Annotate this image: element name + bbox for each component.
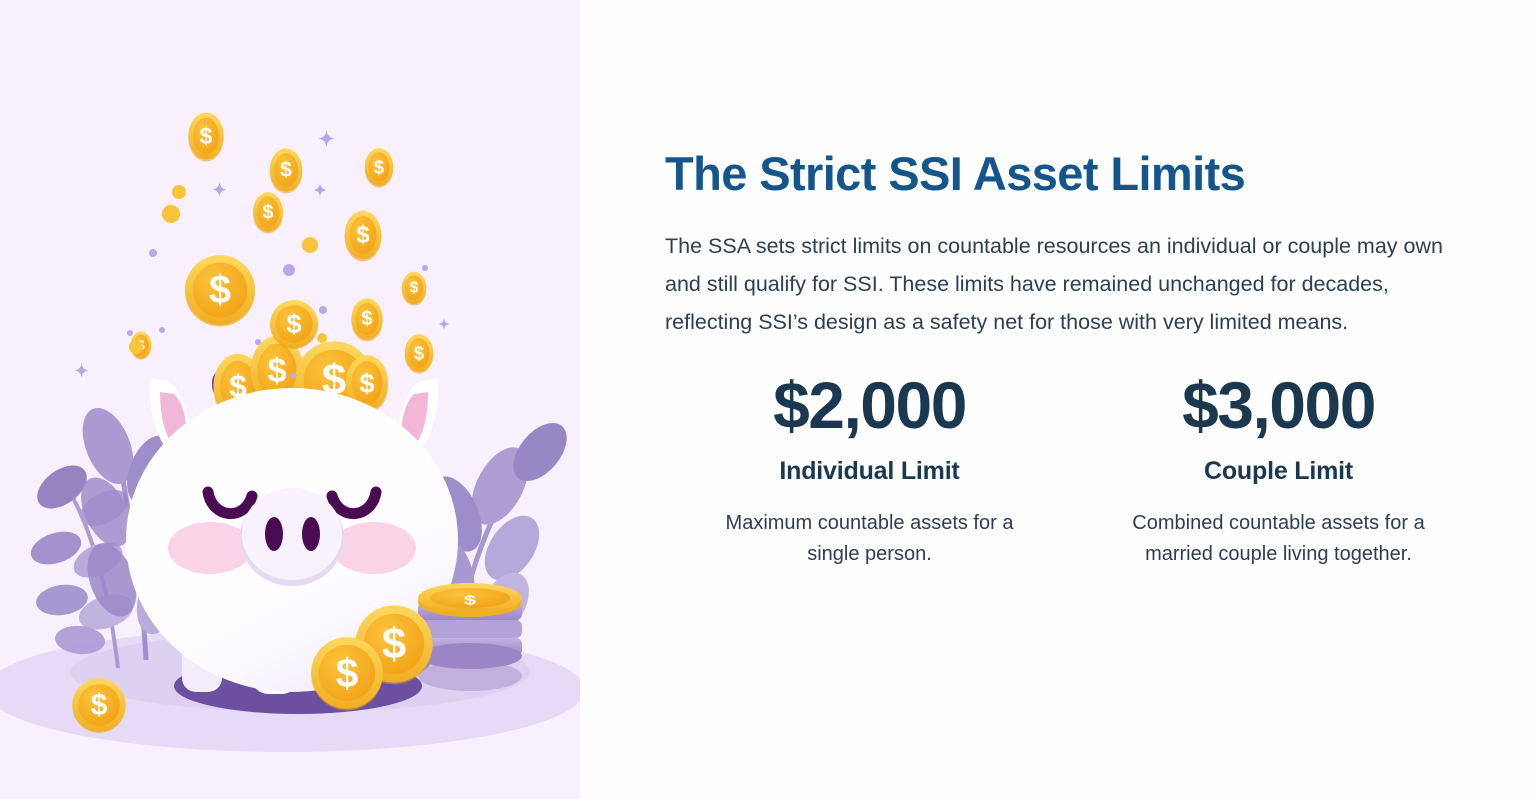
pig-nostril-right	[302, 517, 320, 551]
pig-cheek-left	[168, 522, 252, 574]
page-title: The Strict SSI Asset Limits	[665, 148, 1481, 201]
piggy-bank-illustration: $ $	[0, 0, 580, 799]
stat-individual-limit: $2,000 Individual Limit Maximum countabl…	[665, 369, 1074, 570]
stat-description-couple: Combined countable assets for a married …	[1092, 508, 1465, 570]
content-inner: The Strict SSI Asset Limits The SSA sets…	[665, 148, 1481, 570]
stat-couple-limit: $3,000 Couple Limit Combined countable a…	[1074, 369, 1483, 570]
svg-text:$: $	[464, 593, 476, 608]
ssi-asset-limits-infographic: $ $	[0, 0, 1536, 799]
coin-stack-tall: $	[418, 583, 522, 691]
content-panel: The Strict SSI Asset Limits The SSA sets…	[580, 0, 1536, 799]
pig-snout	[242, 488, 342, 580]
stats-row: $2,000 Individual Limit Maximum countabl…	[665, 369, 1483, 570]
pig-cheek-right	[332, 522, 416, 574]
stat-value-individual: $2,000	[683, 369, 1056, 443]
stat-value-couple: $3,000	[1092, 369, 1465, 443]
stat-description-individual: Maximum countable assets for a single pe…	[683, 508, 1056, 570]
illustration-panel: $ $	[0, 0, 580, 799]
stat-label-individual: Individual Limit	[683, 457, 1056, 486]
stat-label-couple: Couple Limit	[1092, 457, 1465, 486]
pig-nostril-left	[265, 517, 283, 551]
intro-paragraph: The SSA sets strict limits on countable …	[665, 227, 1481, 342]
